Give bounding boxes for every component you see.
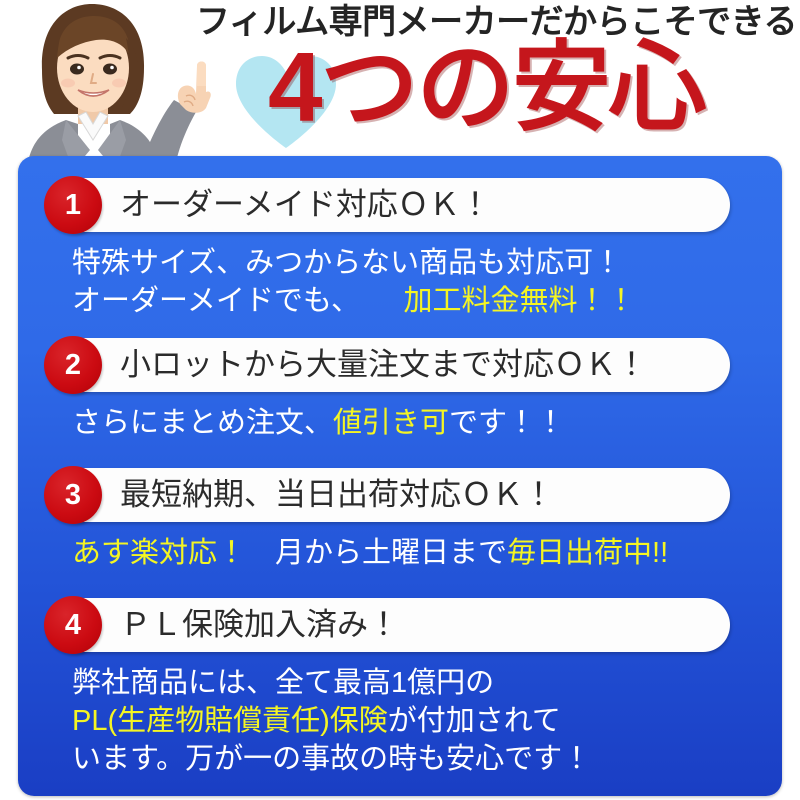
feature-number-badge: 2 <box>44 336 102 394</box>
feature-number-badge: 4 <box>44 596 102 654</box>
description-text: です！！ <box>449 407 565 439</box>
feature-description: 特殊サイズ、みつからない商品も対応可！オーダーメイドでも、 加工料金無料！！ <box>72 244 762 320</box>
description-line: 特殊サイズ、みつからない商品も対応可！ <box>72 244 762 282</box>
feature-title: ＰＬ保険加入済み！ <box>120 598 399 652</box>
features-panel: 1オーダーメイド対応ＯＫ！特殊サイズ、みつからない商品も対応可！オーダーメイドで… <box>18 156 782 796</box>
feature-number-badge: 3 <box>44 466 102 524</box>
feature-item-2: 2小ロットから大量注文まで対応ＯＫ！さらにまとめ注文、値引き可です！！ <box>18 338 782 442</box>
feature-number-label: 4 <box>44 596 102 654</box>
description-line: オーダーメイドでも、 加工料金無料！！ <box>72 282 762 320</box>
highlighted-text: 加工料金無料！！ <box>404 285 636 317</box>
description-text: 弊社商品には、全て最高1億円の <box>72 667 494 699</box>
feature-number-label: 2 <box>44 336 102 394</box>
feature-heading-pill: 3最短納期、当日出荷対応ＯＫ！ <box>54 468 730 522</box>
feature-item-1: 1オーダーメイド対応ＯＫ！特殊サイズ、みつからない商品も対応可！オーダーメイドで… <box>18 178 782 320</box>
description-line: 弊社商品には、全て最高1億円の <box>72 664 762 702</box>
businesswoman-photo <box>0 0 212 162</box>
feature-heading-pill: 4ＰＬ保険加入済み！ <box>54 598 730 652</box>
description-text: 特殊サイズ、みつからない商品も対応可！ <box>72 247 622 279</box>
feature-heading-pill: 1オーダーメイド対応ＯＫ！ <box>54 178 730 232</box>
highlighted-text: あす楽対応！ <box>72 537 246 569</box>
description-line: います。万が一の事故の時も安心です！ <box>72 740 762 778</box>
feature-item-3: 3最短納期、当日出荷対応ＯＫ！あす楽対応！ 月から土曜日まで毎日出荷中!! <box>18 468 782 572</box>
businesswoman-illustration <box>0 0 212 162</box>
description-text <box>345 285 403 317</box>
promo-banner: フィルム専門メーカーだからこそできる 4つの安心 1オーダーメイド対応ＯＫ！特殊… <box>0 0 800 800</box>
feature-title: オーダーメイド対応ＯＫ！ <box>120 178 491 232</box>
feature-title: 最短納期、当日出荷対応ＯＫ！ <box>120 468 554 522</box>
description-line: あす楽対応！ 月から土曜日まで毎日出荷中!! <box>72 534 762 572</box>
feature-description: あす楽対応！ 月から土曜日まで毎日出荷中!! <box>72 534 762 572</box>
description-text: さらにまとめ注文、 <box>72 407 333 439</box>
feature-description: 弊社商品には、全て最高1億円のPL(生産物賠償責任)保険が付加されています。万が… <box>72 664 762 778</box>
description-text: います。万が一の事故の時も安心です！ <box>72 743 591 775</box>
feature-number-label: 3 <box>44 466 102 524</box>
page-title: 4つの安心 <box>268 36 788 139</box>
highlighted-text: PL(生産物賠償責任)保険 <box>72 705 388 737</box>
feature-title: 小ロットから大量注文まで対応ＯＫ！ <box>120 338 647 392</box>
feature-description: さらにまとめ注文、値引き可です！！ <box>72 404 762 442</box>
description-line: さらにまとめ注文、値引き可です！！ <box>72 404 762 442</box>
description-line: PL(生産物賠償責任)保険が付加されて <box>72 702 762 740</box>
description-text: 月から土曜日まで <box>246 537 507 569</box>
feature-number-label: 1 <box>44 176 102 234</box>
feature-heading-pill: 2小ロットから大量注文まで対応ＯＫ！ <box>54 338 730 392</box>
feature-item-4: 4ＰＬ保険加入済み！弊社商品には、全て最高1億円のPL(生産物賠償責任)保険が付… <box>18 598 782 778</box>
description-text: が付加されて <box>388 705 561 737</box>
banner-header: フィルム専門メーカーだからこそできる 4つの安心 <box>0 0 800 158</box>
highlighted-text: 値引き可 <box>333 407 449 439</box>
description-text: オーダーメイドでも、 <box>72 285 345 317</box>
feature-number-badge: 1 <box>44 176 102 234</box>
highlighted-text: 毎日出荷中!! <box>507 537 668 569</box>
